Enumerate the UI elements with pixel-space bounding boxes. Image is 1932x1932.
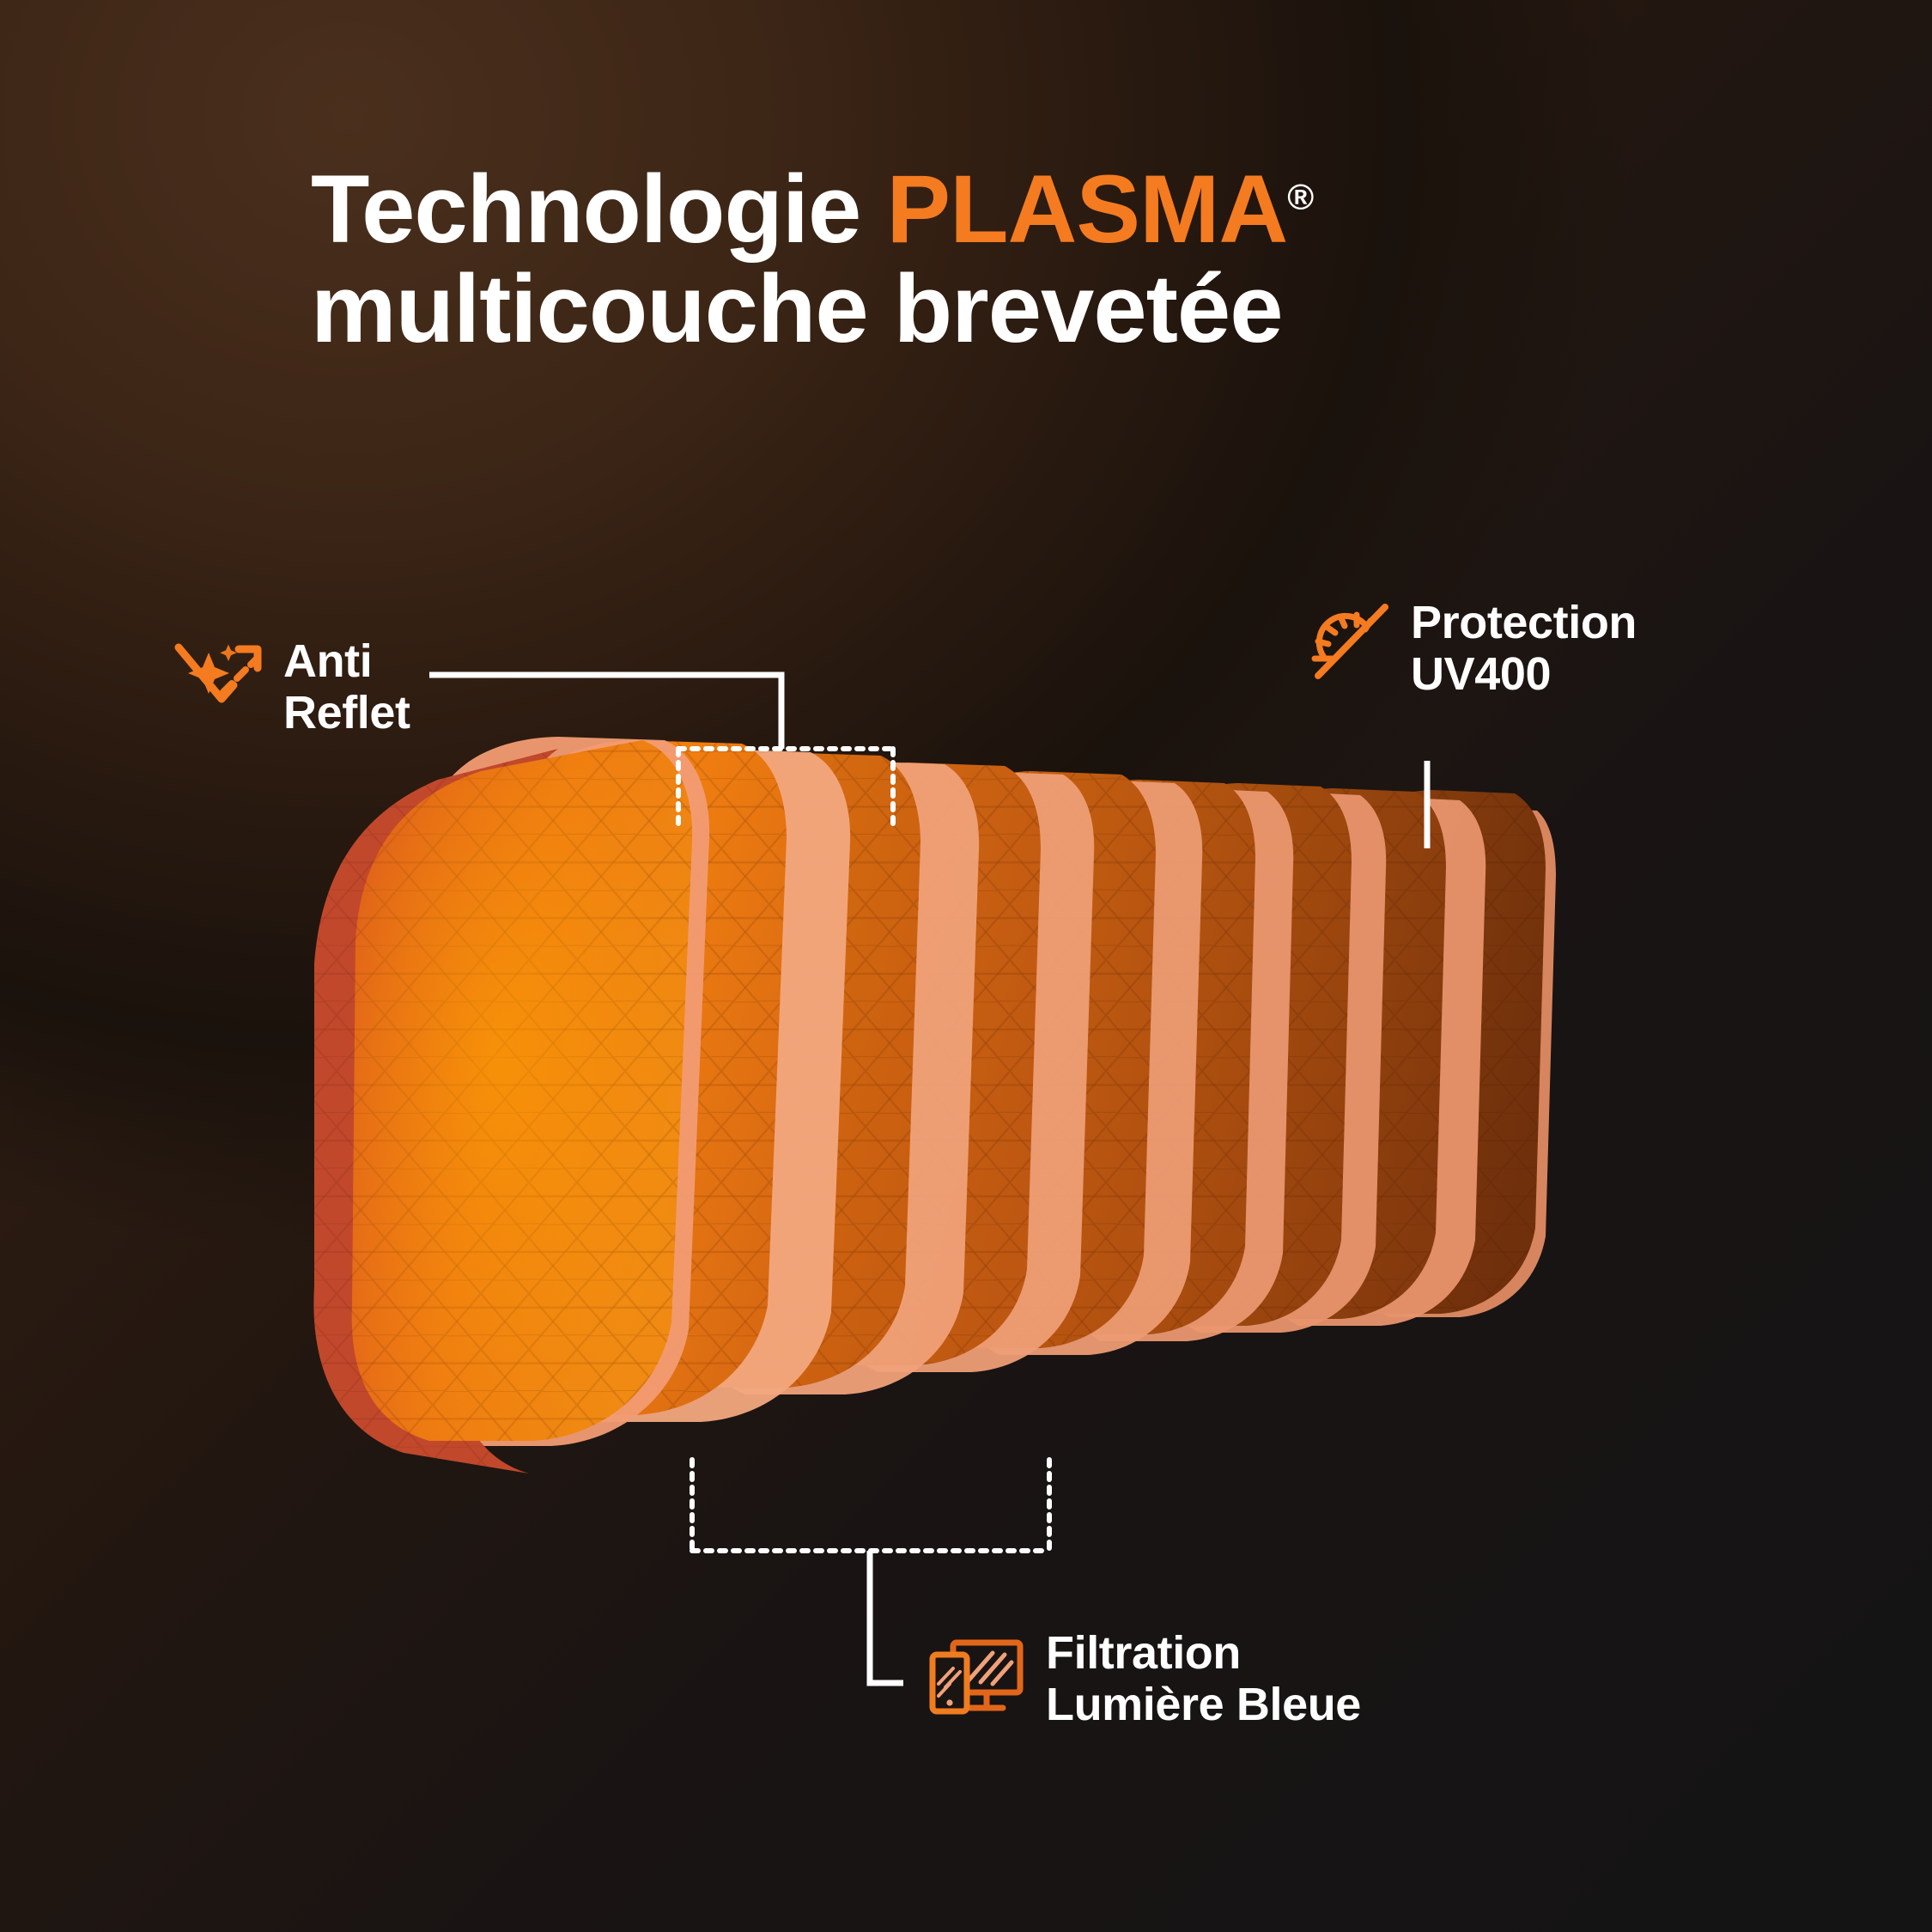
callout-label-filtration: FiltrationLumière Bleue xyxy=(1046,1627,1361,1731)
label-line-2: UV400 xyxy=(1411,648,1551,700)
title-brand: PLASMA xyxy=(886,155,1287,263)
callout-label-uv400: ProtectionUV400 xyxy=(1411,597,1637,701)
callout-anti-reflet: AntiReflet xyxy=(172,635,410,739)
registered-trademark-icon: ® xyxy=(1287,177,1314,217)
uv-sun-blocked-icon xyxy=(1309,600,1392,687)
label-line-1: Protection xyxy=(1411,597,1637,648)
callout-label-anti-reflet: AntiReflet xyxy=(283,635,410,739)
callout-uv400: ProtectionUV400 xyxy=(1309,597,1637,701)
title-line-2: multicouche brevetée xyxy=(311,259,1650,359)
label-line-2: Lumière Bleue xyxy=(1046,1679,1361,1730)
page-title: Technologie PLASMA® multicouche brevetée xyxy=(311,160,1650,360)
monitor-phone-screen-icon xyxy=(927,1631,1027,1724)
label-line-1: Filtration xyxy=(1046,1627,1241,1679)
label-line-1: Anti xyxy=(283,635,372,687)
anti-glare-sparkle-icon xyxy=(172,639,264,717)
callout-filtration-lumiere-bleue: FiltrationLumière Bleue xyxy=(927,1627,1361,1731)
title-prefix: Technologie xyxy=(311,155,886,263)
infographic-canvas: Technologie PLASMA® multicouche brevetée… xyxy=(0,0,1932,1932)
label-line-2: Reflet xyxy=(283,687,410,738)
title-line-1: Technologie PLASMA® xyxy=(311,160,1650,259)
